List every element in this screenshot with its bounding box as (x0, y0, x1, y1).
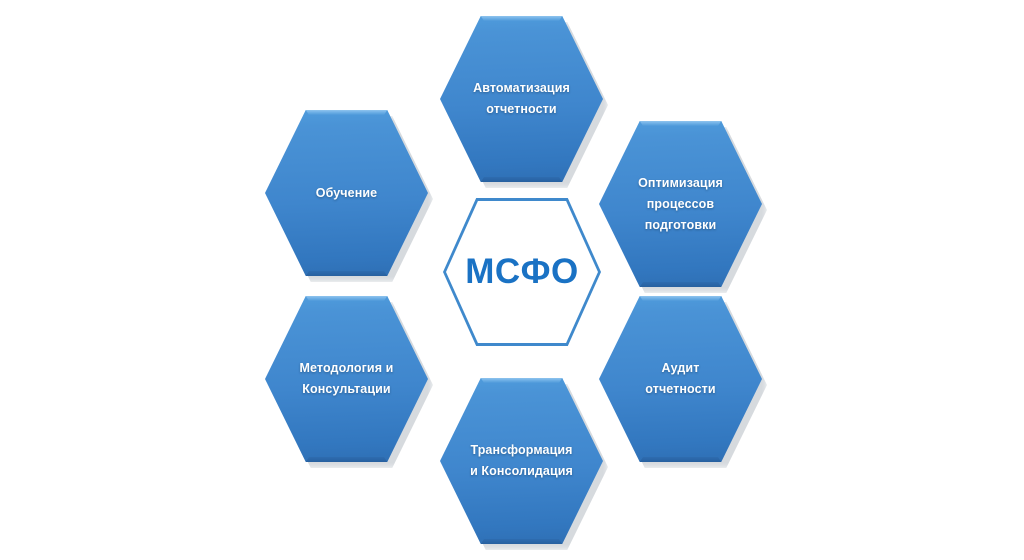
hex-node-obuchenie[interactable]: Обучение (265, 110, 428, 276)
hex-label-line: Аудит (662, 358, 700, 379)
hex-node-metodologiya-i-konsultatsii[interactable]: Методология и Консультации (265, 296, 428, 462)
hex-node-transformatsiya-i-konsolidatsiya[interactable]: Трансформация и Консолидация (440, 378, 603, 544)
hex-label: Обучение (265, 110, 428, 276)
hex-label-line: Консультации (302, 379, 390, 400)
hex-node-center-msfo[interactable]: МСФО (443, 198, 601, 346)
hex-label: Трансформация и Консолидация (440, 378, 603, 544)
hex-label-line: процессов (647, 194, 714, 215)
hex-node-audit-otchetnosti[interactable]: Аудит отчетности (599, 296, 762, 462)
hex-label: Аудит отчетности (599, 296, 762, 462)
hex-label-line: и Консолидация (470, 461, 573, 482)
hex-label-line: Трансформация (470, 440, 572, 461)
hex-label-line: Методология и (300, 358, 394, 379)
hex-node-optimizatsiya-protsessov-podgotovki[interactable]: Оптимизация процессов подготовки (599, 121, 762, 287)
hex-label-line: Оптимизация (638, 173, 723, 194)
hex-label: Автоматизация отчетности (440, 16, 603, 182)
hex-label: Оптимизация процессов подготовки (599, 121, 762, 287)
hex-label: Методология и Консультации (265, 296, 428, 462)
hex-label-line: подготовки (645, 215, 717, 236)
center-hex-label: МСФО (443, 198, 601, 346)
hex-label-line: отчетности (645, 379, 715, 400)
hex-label-line: Обучение (316, 183, 377, 204)
hex-label-line: Автоматизация (473, 78, 570, 99)
hex-node-avtomatizatsiya-otchetnosti[interactable]: Автоматизация отчетности (440, 16, 603, 182)
diagram-canvas: Автоматизация отчетности Оптимизация про… (0, 0, 1024, 560)
hex-label-line: отчетности (486, 99, 556, 120)
